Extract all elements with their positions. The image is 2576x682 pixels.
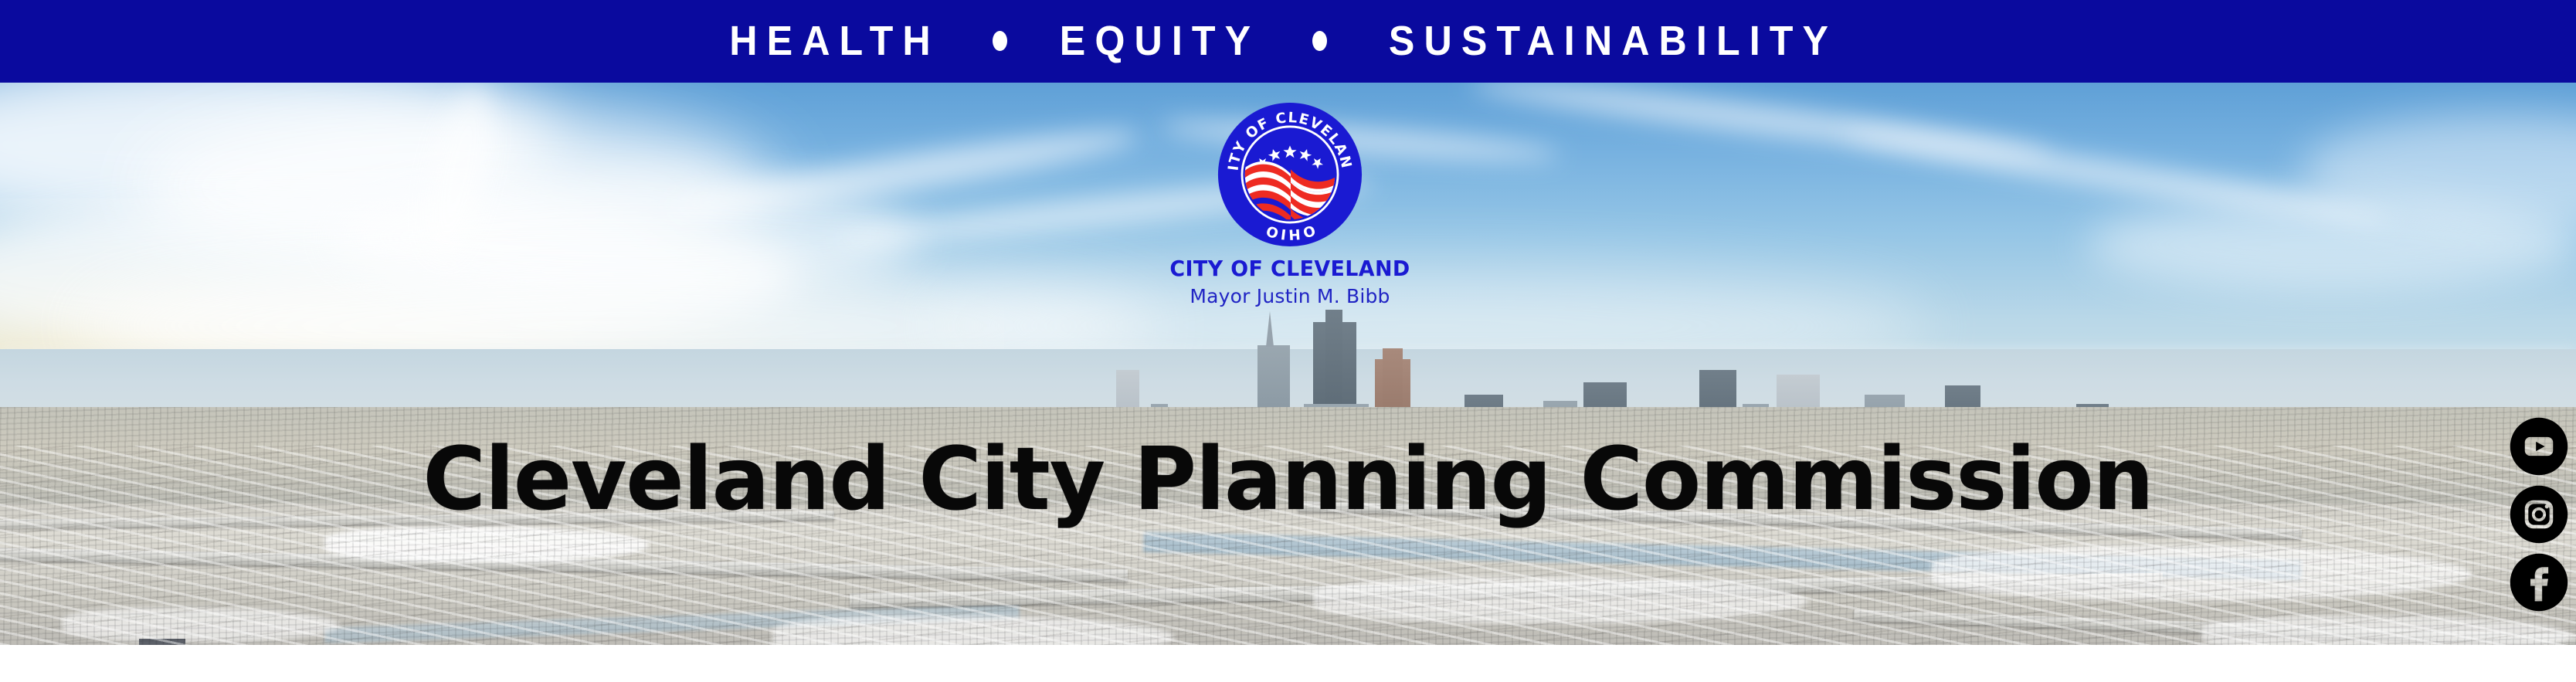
- city-branding-lockup: CITY OF CLEVELAND OHIO: [1162, 102, 1417, 306]
- facebook-icon[interactable]: [2510, 553, 2568, 612]
- tagline-word-health: HEALTH: [729, 20, 939, 62]
- tagline-inner: HEALTH EQUITY SUSTAINABILITY: [721, 20, 1855, 62]
- tagline-word-equity: EQUITY: [1060, 20, 1260, 62]
- city-name-wordmark: CITY OF CLEVELAND: [1168, 258, 1413, 280]
- bottom-white-strip: [0, 645, 2576, 682]
- tagline-banner: HEALTH EQUITY SUSTAINABILITY: [0, 0, 2576, 83]
- city-of-cleveland-seal: CITY OF CLEVELAND OHIO: [1217, 102, 1363, 247]
- social-media-rail: [2502, 417, 2576, 612]
- page-root: HEALTH EQUITY SUSTAINABILITY: [0, 0, 2576, 682]
- tagline-separator-dot-1: [993, 31, 1007, 51]
- youtube-icon[interactable]: [2510, 417, 2568, 476]
- tagline-word-sustainability: SUSTAINABILITY: [1389, 20, 1838, 62]
- instagram-icon[interactable]: [2510, 485, 2568, 544]
- tagline-separator-dot-2: [1312, 31, 1327, 51]
- mayor-name: Mayor Justin M. Bibb: [1162, 287, 1417, 306]
- terminal-tower-spire: [1266, 311, 1274, 347]
- page-title: Cleveland City Planning Commission: [13, 436, 2564, 523]
